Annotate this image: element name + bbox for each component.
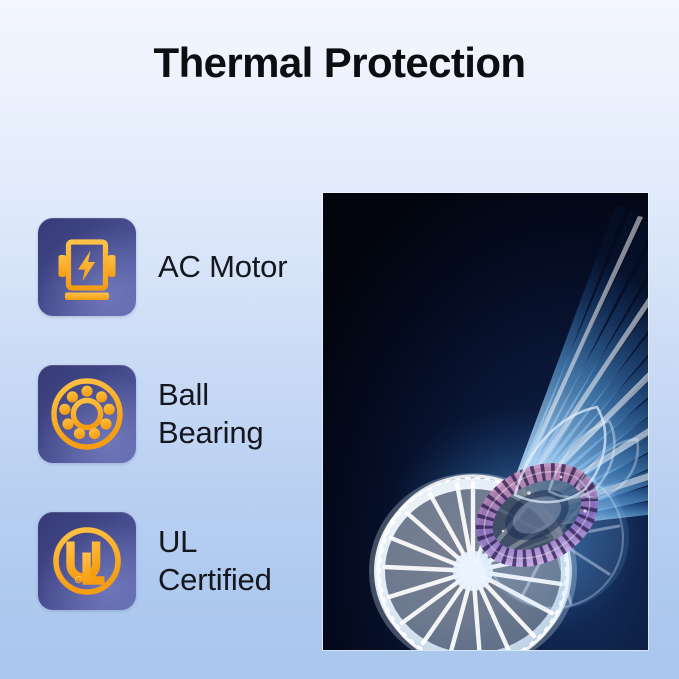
svg-text:R: R <box>77 577 80 582</box>
fan-motor-product-photo <box>323 193 648 650</box>
feature-item-ul-certified: R UL Certified <box>38 512 313 610</box>
feature-list: AC Motor <box>38 218 313 610</box>
ball-bearing-icon <box>50 377 124 451</box>
feature-icon-tile: R <box>38 512 136 610</box>
feature-item-ac-motor: AC Motor <box>38 218 313 316</box>
feature-label-line1: AC Motor <box>158 249 287 284</box>
feature-label: UL Certified <box>158 523 272 599</box>
feature-label: Ball Bearing <box>158 376 263 452</box>
feature-label-line1: UL <box>158 524 197 559</box>
ac-motor-icon <box>51 231 123 303</box>
infographic-canvas: Thermal Protection <box>0 0 679 679</box>
feature-icon-tile <box>38 218 136 316</box>
page-title: Thermal Protection <box>0 36 679 90</box>
feature-label: AC Motor <box>158 248 287 286</box>
feature-icon-tile <box>38 365 136 463</box>
feature-label-line1: Ball <box>158 377 209 412</box>
feature-item-ball-bearing: Ball Bearing <box>38 365 313 463</box>
feature-label-line2: Certified <box>158 561 272 599</box>
ul-certified-icon: R <box>50 524 124 598</box>
feature-label-line2: Bearing <box>158 414 263 452</box>
